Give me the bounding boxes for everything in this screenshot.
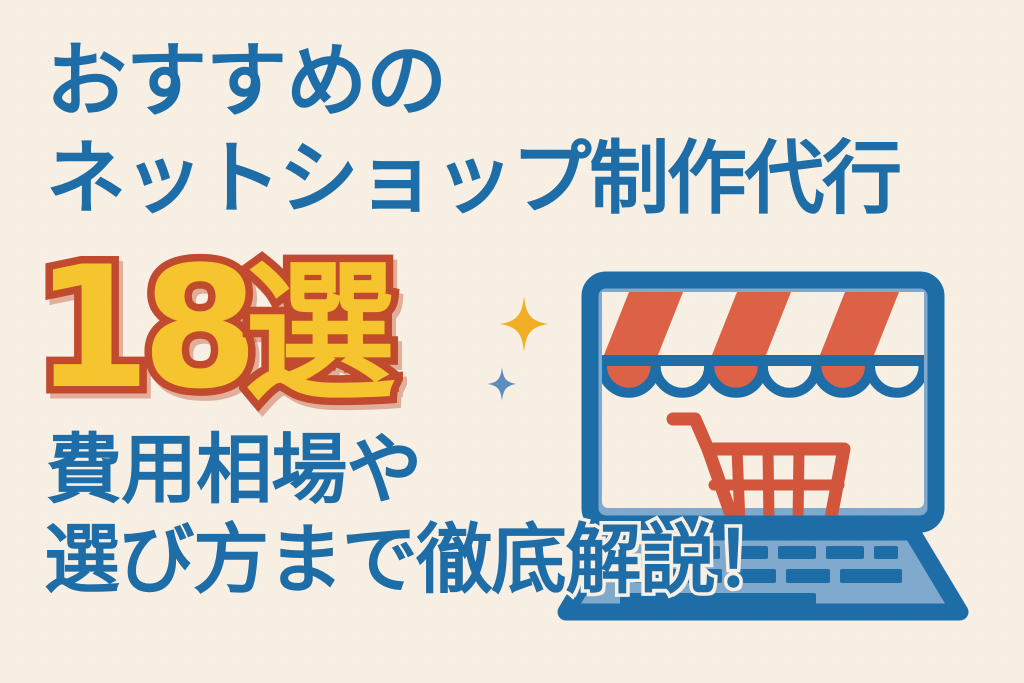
badge-count-number: 18 — [34, 244, 249, 412]
awning-stripes — [602, 292, 899, 360]
badge-count-kanji: 選 — [244, 258, 396, 410]
sparkle-small-icon — [488, 367, 516, 405]
poster-canvas: おすすめの ネットショップ制作代行 18 選 費用相場や 選び方まで徹底解説！ — [0, 0, 1024, 683]
subhead-line-1: 費用相場や — [46, 432, 421, 508]
shop-awning — [596, 292, 930, 393]
sparkle-large-icon — [500, 296, 548, 356]
headline-line-2: ネットショップ制作代行 — [46, 139, 900, 219]
headline-line-1: おすすめの — [46, 42, 446, 123]
subhead-line-2: 選び方まで徹底解説！ — [44, 522, 789, 598]
